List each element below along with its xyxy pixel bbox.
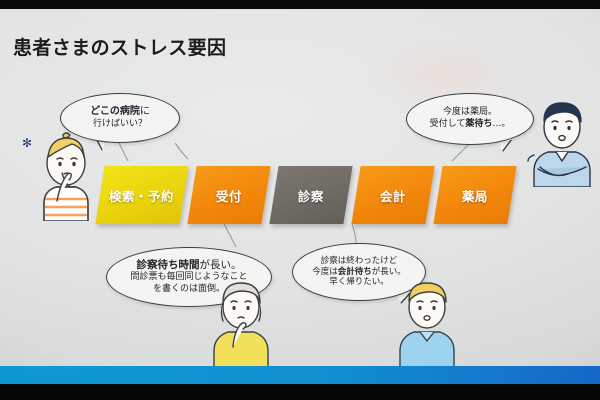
bubble-line: 診察待ち時間が長い。: [137, 259, 242, 272]
page-title: 患者さまのストレス要因: [13, 33, 226, 60]
step-reception[interactable]: 受付: [187, 166, 270, 224]
step-search-reserve[interactable]: 検索・予約: [95, 166, 188, 224]
bubble-top-left: どこの病院に 行けばいい？: [60, 93, 180, 143]
step-payment[interactable]: 会計: [351, 166, 434, 224]
bubble-line: 受付して薬待ち…。: [430, 119, 511, 131]
step-label: 検索・予約: [109, 186, 174, 205]
process-flow: 検索・予約 受付 診察 会計 薬局: [96, 166, 516, 228]
bubble-line: 今度は会計待ちが長い。: [312, 267, 406, 278]
step-label: 会計: [380, 186, 406, 205]
bubble-line: 診察は終わったけど: [321, 256, 398, 267]
bubble-line: 行けばいい？: [93, 119, 147, 131]
young-woman-thinking: [26, 129, 106, 221]
projected-slide: 患者さまのストレス要因 検索・予約 受付 診察 会計: [0, 9, 600, 384]
step-label: 薬局: [462, 186, 488, 205]
slide-footer-band: [0, 366, 600, 384]
step-pharmacy[interactable]: 薬局: [433, 166, 516, 224]
man-arms-crossed: [524, 95, 600, 187]
screen-bezel-top: [0, 0, 600, 9]
boy-waiting: [388, 277, 466, 367]
woman-hand-on-chin: [200, 277, 282, 367]
slide-photo: 患者さまのストレス要因 検索・予約 受付 診察 会計: [0, 0, 600, 400]
bubble-line: どこの病院に: [90, 106, 150, 119]
step-label: 診察: [298, 186, 324, 205]
step-consultation[interactable]: 診察: [269, 166, 352, 224]
screen-bezel-bottom: [0, 384, 600, 400]
bubble-line: 早く帰りたい。: [329, 277, 389, 288]
step-label: 受付: [216, 186, 242, 205]
bubble-line: 今度は薬局。: [443, 107, 497, 119]
bubble-top-right: 今度は薬局。 受付して薬待ち…。: [406, 93, 534, 145]
